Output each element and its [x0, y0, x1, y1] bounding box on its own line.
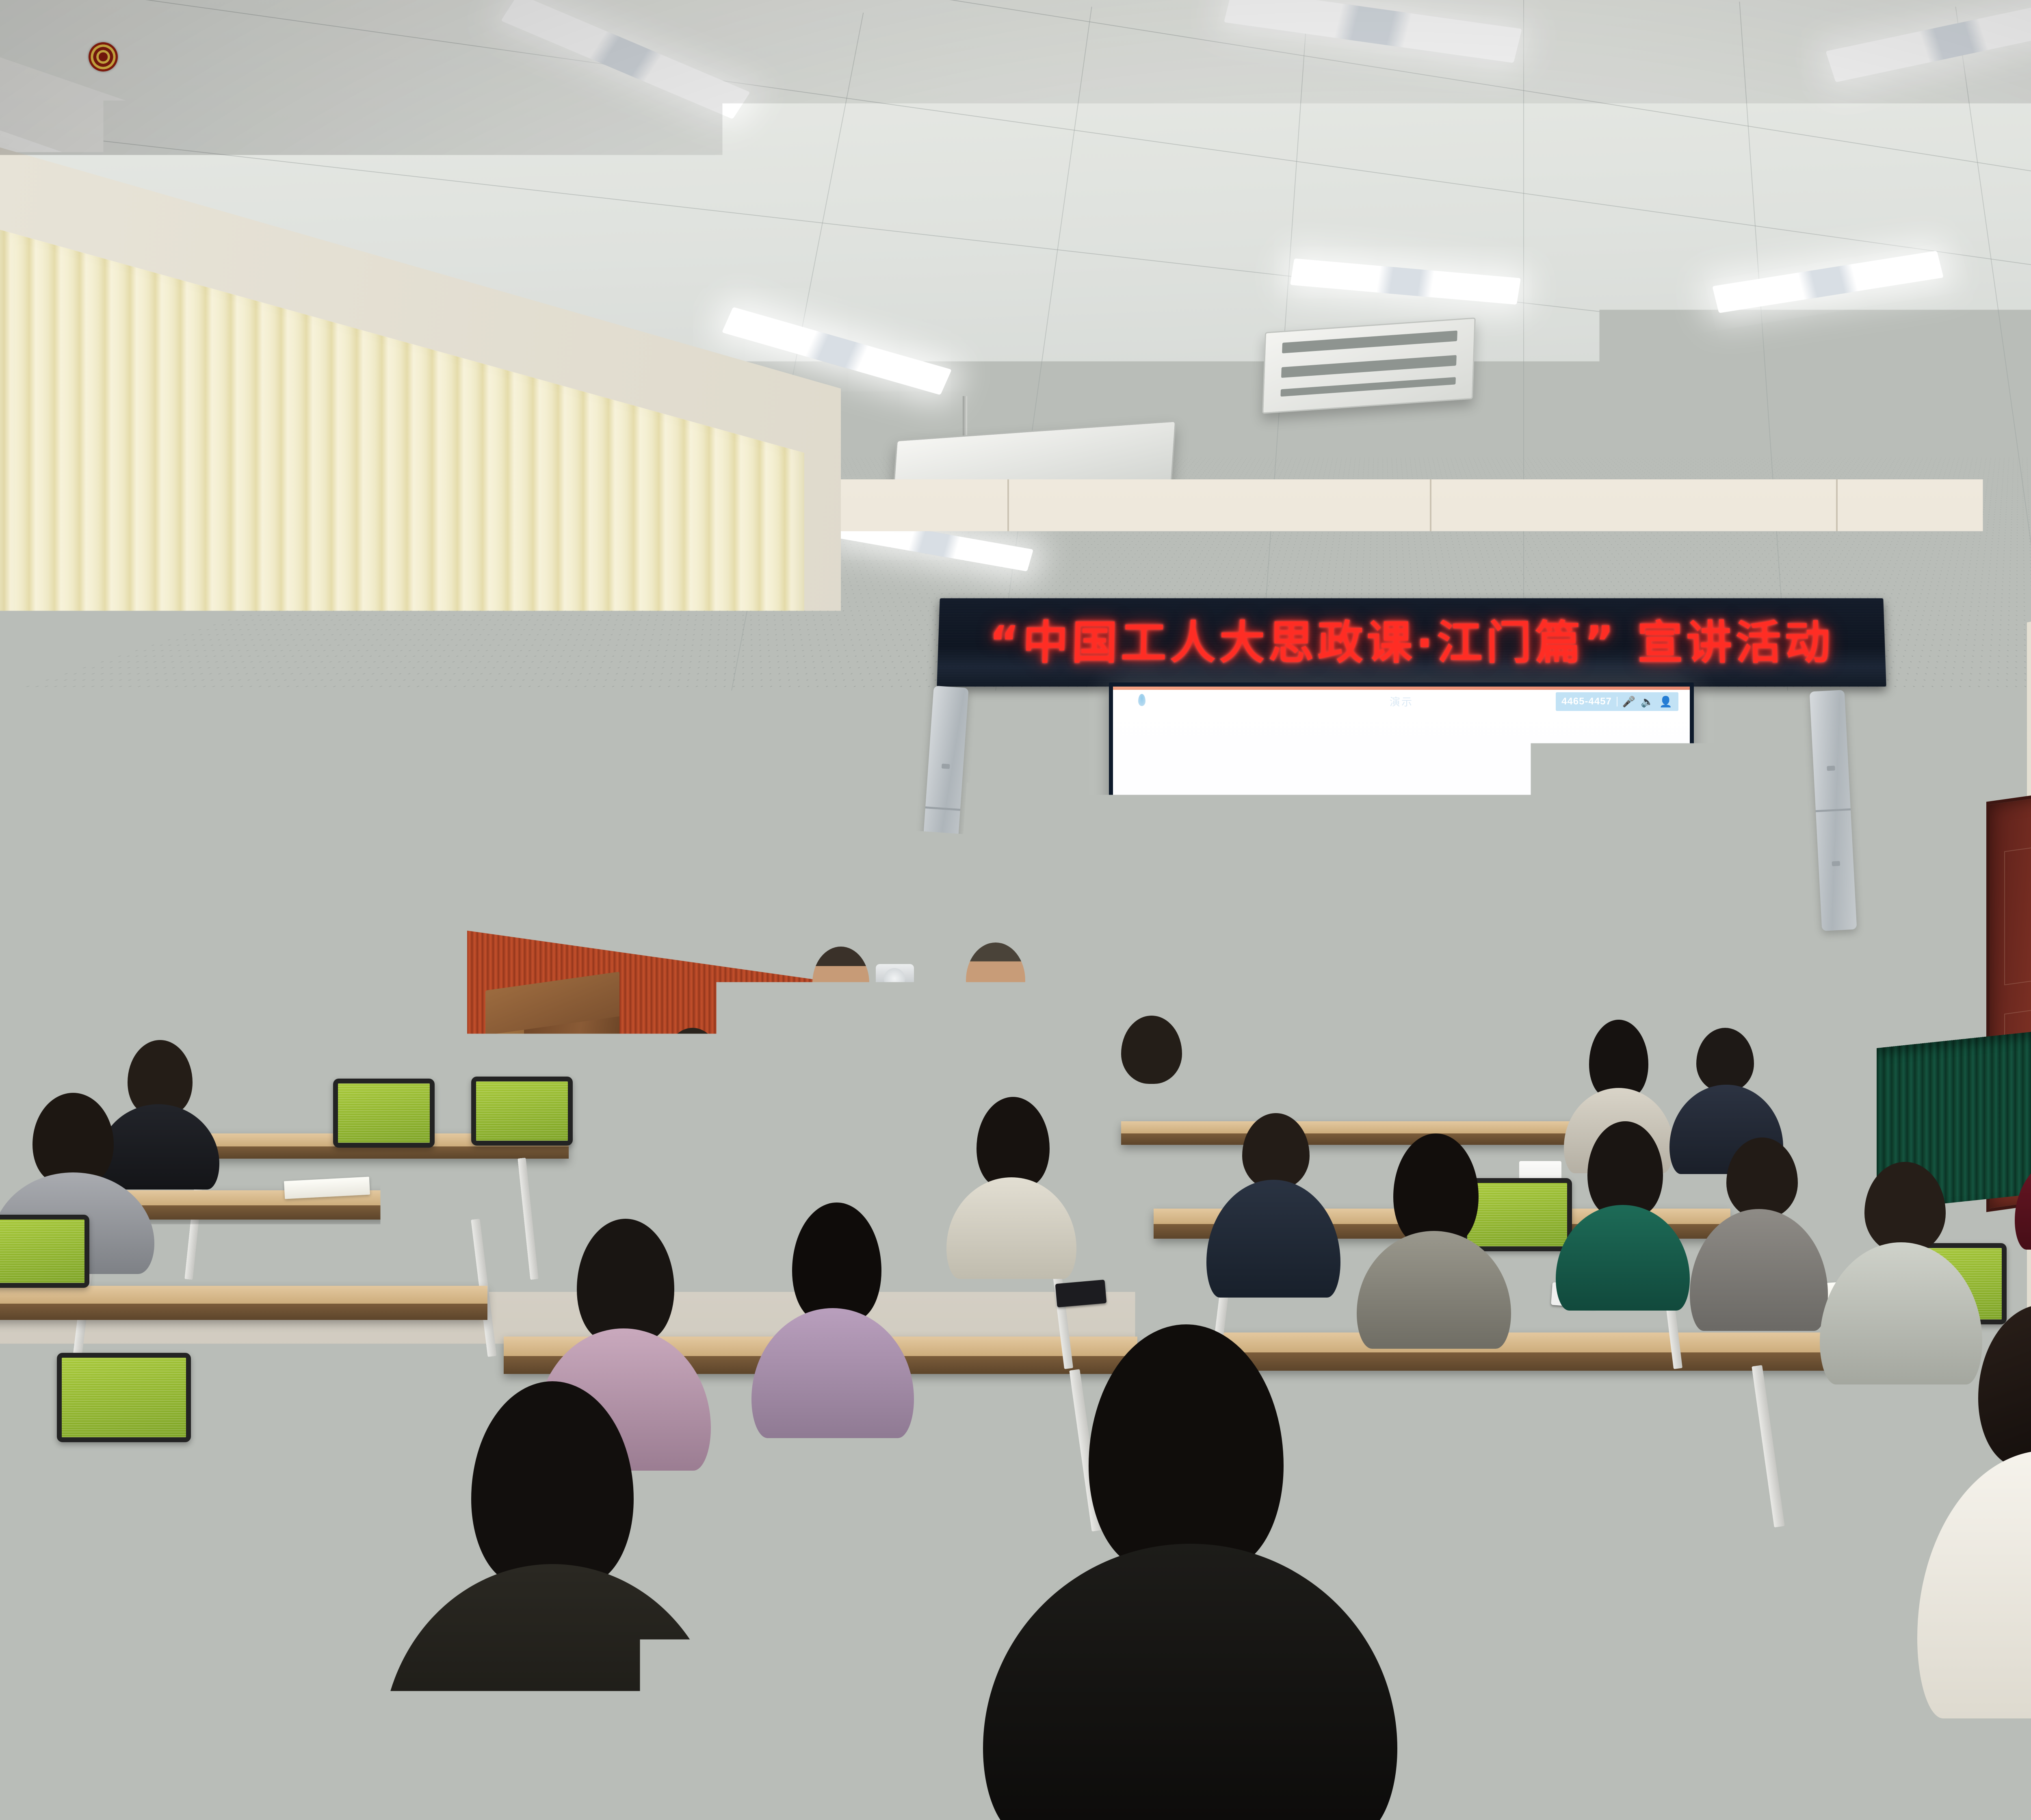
mobile-phone[interactable] — [1055, 1280, 1107, 1307]
person-head — [1696, 1028, 1754, 1092]
audience-person — [1206, 1113, 1340, 1292]
audience-chair[interactable] — [57, 1353, 191, 1442]
presenter-head — [966, 942, 1025, 1010]
badge-number: 4465-4457 — [1561, 696, 1612, 707]
person-torso — [946, 1177, 1076, 1279]
placard-audience-spare: 蔡汉文 — [1336, 1093, 1410, 1118]
projector-mount-rod — [963, 396, 967, 441]
person-torso — [1206, 1180, 1340, 1298]
projection-screen-frame: 演示 4465-4457 🎤 🔈 👤 中国工会百年历程几大理论 2025年12月 — [1109, 682, 1694, 1048]
person-head — [1864, 1162, 1946, 1254]
audience-person — [1357, 1133, 1511, 1337]
sprinkler-head — [764, 191, 773, 210]
ceiling-light-fixture — [501, 0, 750, 119]
person-torso — [1093, 1075, 1210, 1168]
person-head — [471, 1381, 634, 1584]
person-head — [977, 1097, 1050, 1186]
person-torso — [1779, 1621, 2031, 1820]
person-head — [32, 1093, 114, 1182]
person-head — [1393, 1133, 1479, 1243]
ceiling-light-fixture — [1712, 251, 1944, 313]
audience-person — [946, 1097, 1076, 1272]
person-head — [1587, 1121, 1663, 1215]
audience-person — [642, 1028, 743, 1162]
person-head — [665, 1028, 720, 1089]
led-banner: “中国工人大思政课·江门篇” 宣讲活动 — [937, 598, 1886, 687]
person-torso — [1690, 1209, 1828, 1331]
led-banner-text: “中国工人大思政课·江门篇” 宣讲活动 — [988, 606, 1835, 672]
person-torso — [1556, 1205, 1690, 1311]
person-head — [1242, 1113, 1310, 1189]
audience-person-foreground — [0, 1544, 236, 1820]
person-torso — [0, 1678, 260, 1820]
podium-emblem-icon — [89, 42, 118, 71]
ceiling-light-fixture — [1224, 0, 1522, 63]
presenter-laptop[interactable] — [975, 1024, 1085, 1085]
wall-power-outlet[interactable] — [1791, 1028, 1821, 1049]
audience-person — [1556, 1121, 1690, 1304]
person-head — [1089, 1324, 1284, 1568]
slide-title: 中国工会百年历程几大理论 — [1113, 808, 1690, 872]
audience-person-foreground — [1007, 1324, 1373, 1820]
audience-chair[interactable] — [333, 1079, 435, 1148]
slide-top-accent — [1113, 687, 1690, 690]
wall-power-outlet[interactable] — [1954, 945, 1985, 967]
audience-person — [1093, 1016, 1210, 1166]
audience-chair[interactable] — [0, 1215, 89, 1288]
person-torso — [382, 1564, 723, 1820]
person-icon: 👤 — [1659, 695, 1673, 708]
audience-person-foreground — [1795, 1471, 2031, 1820]
conference-room-photo: 江门工人大 大思政 中 “中国工人大思政课·江门篇” 宣讲活动 — [0, 0, 2031, 1820]
audience-person-foreground — [398, 1381, 707, 1820]
slide-date: 2025年12月 — [1113, 914, 1690, 945]
slide-watermark: 演示 — [1390, 694, 1413, 709]
person-torso — [642, 1081, 743, 1166]
person-head — [837, 1093, 906, 1170]
person-head — [577, 1219, 674, 1341]
ceiling-light-fixture — [1290, 258, 1521, 305]
person-head — [1589, 1020, 1648, 1097]
placard-role: 主持人 — [769, 1014, 821, 1037]
ceiling-ac-unit — [1262, 317, 1476, 414]
audience-person — [1690, 1137, 1828, 1328]
camera-lens-icon — [884, 968, 905, 989]
person-head — [792, 1202, 881, 1320]
badge-separator — [1617, 697, 1617, 706]
mic-icon: 🎤 — [1622, 695, 1636, 708]
person-head — [1121, 1016, 1182, 1084]
person-torso — [1357, 1231, 1511, 1349]
audience-desk — [0, 1286, 487, 1320]
person-torso — [983, 1544, 1397, 1820]
slide-status-badge: 4465-4457 🎤 🔈 👤 — [1556, 692, 1678, 711]
slide-logo-icon — [1138, 694, 1145, 706]
speaker-icon: 🔈 — [1641, 695, 1654, 708]
ceiling-light-fixture — [1825, 0, 2031, 82]
person-torso — [751, 1308, 914, 1438]
camera-body — [860, 988, 929, 1010]
person-head — [1726, 1137, 1798, 1219]
person-head — [1978, 1304, 2031, 1467]
audience-person — [751, 1202, 914, 1430]
wall-panel-seam — [796, 581, 2031, 583]
audience-chair[interactable] — [471, 1077, 573, 1146]
placard-name: 蔡汉文 — [1353, 1096, 1392, 1114]
projection-screen: 演示 4465-4457 🎤 🔈 👤 中国工会百年历程几大理论 2025年12月 — [1113, 687, 1690, 1044]
person-head — [1869, 1471, 2031, 1641]
